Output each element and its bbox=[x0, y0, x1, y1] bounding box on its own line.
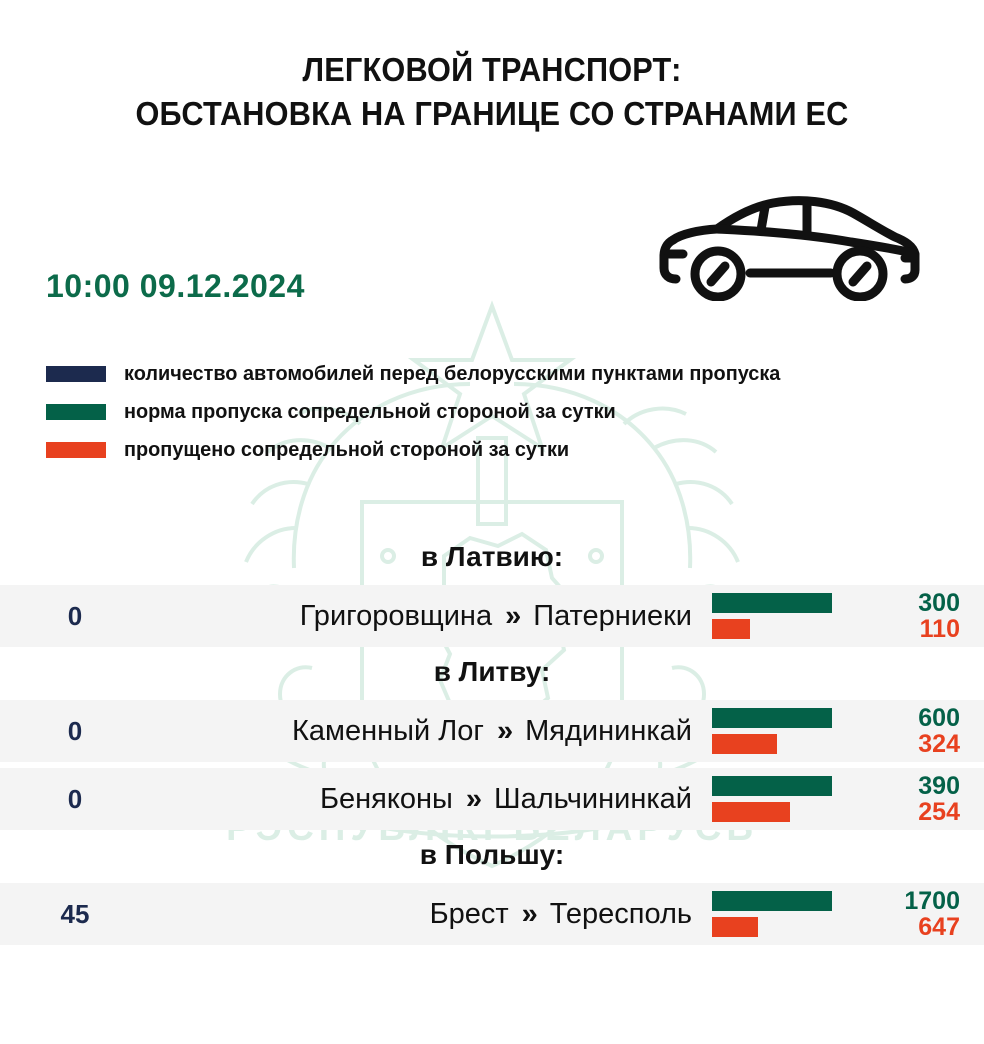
bar-passed bbox=[712, 619, 750, 639]
table-row: 0 Григоровщина » Патерниеки 300 110 bbox=[0, 585, 984, 647]
car-icon bbox=[655, 186, 925, 301]
values: 1700 647 bbox=[864, 883, 960, 945]
table-row: 0 Беняконы » Шальчининкай 390 254 bbox=[0, 768, 984, 830]
value-passed: 647 bbox=[864, 914, 960, 940]
bars bbox=[712, 768, 864, 830]
legend-label-passed: пропущено сопредельной стороной за сутки bbox=[124, 438, 569, 462]
bar-norm bbox=[712, 776, 832, 796]
value-norm: 390 bbox=[864, 773, 960, 799]
value-passed: 324 bbox=[864, 731, 960, 757]
chevron-double-right-icon: » bbox=[505, 600, 520, 633]
values: 600 324 bbox=[864, 700, 960, 762]
values: 390 254 bbox=[864, 768, 960, 830]
route-to: Тересполь bbox=[550, 898, 692, 931]
value-norm: 1700 bbox=[864, 888, 960, 914]
route-to: Мядининкай bbox=[525, 715, 692, 748]
queue-count: 0 bbox=[30, 768, 120, 830]
table-row: 45 Брест » Тересполь 1700 647 bbox=[0, 883, 984, 945]
value-passed: 254 bbox=[864, 799, 960, 825]
legend-swatch-queue bbox=[46, 366, 106, 382]
bars bbox=[712, 585, 864, 647]
bar-norm bbox=[712, 593, 832, 613]
route-from: Беняконы bbox=[320, 783, 453, 816]
bars bbox=[712, 700, 864, 762]
legend-swatch-norm bbox=[46, 404, 106, 420]
table-row: 0 Каменный Лог » Мядининкай 600 324 bbox=[0, 700, 984, 762]
route-to: Шальчининкай bbox=[494, 783, 692, 816]
section-heading-poland: в Польшу: bbox=[0, 830, 984, 883]
bar-passed bbox=[712, 734, 777, 754]
legend-item-passed: пропущено сопредельной стороной за сутки bbox=[46, 431, 946, 469]
bar-passed bbox=[712, 917, 758, 937]
chevron-double-right-icon: » bbox=[522, 898, 537, 931]
legend: количество автомобилей перед белорусским… bbox=[46, 355, 946, 469]
bar-passed bbox=[712, 802, 790, 822]
chevron-double-right-icon: » bbox=[497, 715, 512, 748]
route-from: Брест bbox=[430, 898, 509, 931]
legend-swatch-passed bbox=[46, 442, 106, 458]
section-heading-lithuania: в Литву: bbox=[0, 647, 984, 700]
bars bbox=[712, 883, 864, 945]
chevron-double-right-icon: » bbox=[466, 783, 481, 816]
route: Беняконы » Шальчининкай bbox=[120, 768, 700, 830]
bar-norm bbox=[712, 891, 832, 911]
section-heading-latvia: в Латвию: bbox=[0, 532, 984, 585]
bar-norm bbox=[712, 708, 832, 728]
page-title: ЛЕГКОВОЙ ТРАНСПОРТ: ОБСТАНОВКА НА ГРАНИЦ… bbox=[34, 48, 949, 135]
infographic-root: ЛЕГКОВОЙ ТРАНСПОРТ: ОБСТАНОВКА НА ГРАНИЦ… bbox=[0, 0, 984, 1044]
queue-count: 0 bbox=[30, 585, 120, 647]
legend-label-queue: количество автомобилей перед белорусским… bbox=[124, 362, 780, 386]
value-norm: 600 bbox=[864, 705, 960, 731]
legend-item-queue: количество автомобилей перед белорусским… bbox=[46, 355, 946, 393]
route: Каменный Лог » Мядининкай bbox=[120, 700, 700, 762]
route: Брест » Тересполь bbox=[120, 883, 700, 945]
sections-list: в Латвию: 0 Григоровщина » Патерниеки 30… bbox=[0, 532, 984, 945]
legend-label-norm: норма пропуска сопредельной стороной за … bbox=[124, 400, 616, 424]
route: Григоровщина » Патерниеки bbox=[120, 585, 700, 647]
legend-item-norm: норма пропуска сопредельной стороной за … bbox=[46, 393, 946, 431]
route-from: Каменный Лог bbox=[292, 715, 484, 748]
values: 300 110 bbox=[864, 585, 960, 647]
queue-count: 0 bbox=[30, 700, 120, 762]
timestamp: 10:00 09.12.2024 bbox=[46, 268, 305, 305]
route-to: Патерниеки bbox=[533, 600, 692, 633]
queue-count: 45 bbox=[30, 883, 120, 945]
value-norm: 300 bbox=[864, 590, 960, 616]
route-from: Григоровщина bbox=[300, 600, 492, 633]
value-passed: 110 bbox=[864, 616, 960, 642]
